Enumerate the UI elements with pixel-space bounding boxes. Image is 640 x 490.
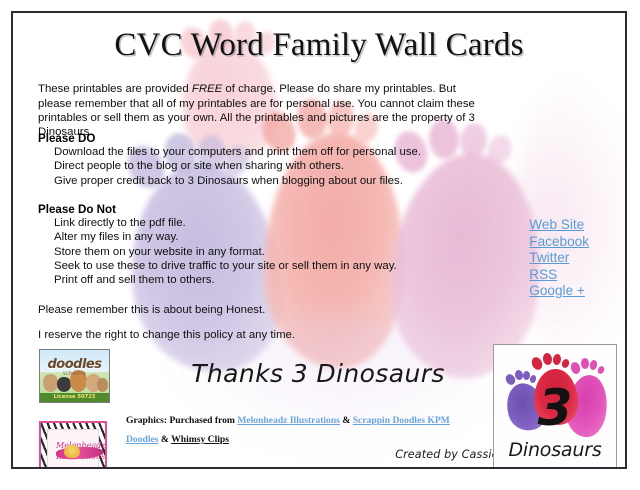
link-twitter[interactable]: Twitter — [529, 250, 589, 267]
list-item: Download the files to your computers and… — [54, 145, 468, 159]
list-item: Give proper credit back to 3 Dinosaurs w… — [54, 174, 468, 188]
page-frame: CVC Word Family Wall Cards These printab… — [11, 11, 627, 469]
list-item: Store them on your website in any format… — [54, 245, 468, 259]
intro-paragraph: These printables are provided FREE of ch… — [38, 82, 478, 139]
credit-link-melonheadz-illustrations[interactable]: Melonheadz Illustrations — [237, 415, 340, 426]
scrappin-badge-wordmark: doodles — [40, 357, 109, 372]
melonheadz-badge-inner: Melonheadz Illustrations — [47, 429, 99, 468]
list-item: Seek to use these to drive traffic to yo… — [54, 259, 468, 273]
intro-emphasis-free: FREE — [192, 83, 222, 95]
please-do-not-heading: Please Do Not — [38, 203, 468, 216]
credits-ampersand: & — [159, 434, 172, 445]
logo-pink-toe — [570, 361, 582, 375]
please-do-not-section: Please Do Not Link directly to the pdf f… — [38, 203, 468, 287]
scrappin-badge-license: License 50723 — [40, 393, 109, 402]
policy-statement: I reserve the right to change this polic… — [38, 328, 438, 342]
please-do-list: Download the files to your computers and… — [38, 145, 468, 188]
credit-link-whimsy-clips[interactable]: Whimsy Clips — [171, 434, 229, 445]
please-do-section: Please DO Download the files to your com… — [38, 132, 468, 188]
please-do-heading: Please DO — [38, 132, 468, 145]
logo-red-toe — [552, 354, 561, 366]
printable-cover-page: CVC Word Family Wall Cards These printab… — [0, 0, 640, 490]
graphics-credits: Graphics: Purchased from Melonheadz Illu… — [126, 411, 476, 449]
thanks-message: Thanks 3 Dinosaurs — [153, 359, 483, 388]
link-web-site[interactable]: Web Site — [529, 217, 589, 234]
logo-pink-toe — [589, 359, 598, 370]
logo-pink-toe — [597, 365, 606, 375]
list-item: Link directly to the pdf file. — [54, 216, 468, 230]
link-facebook[interactable]: Facebook — [529, 234, 589, 251]
badge-animal-graphic — [97, 378, 108, 392]
page-content: CVC Word Family Wall Cards These printab… — [13, 13, 625, 467]
intro-part-1: These printables are provided — [38, 83, 192, 95]
social-link-list: Web Site Facebook Twitter RSS Google + — [529, 217, 589, 300]
list-item: Alter my files in any way. — [54, 230, 468, 244]
credit-link-scrappin-doodles[interactable]: Scrappin Doodles — [353, 415, 428, 426]
list-item: Direct people to the blog or site when s… — [54, 159, 468, 173]
logo-pink-toe — [581, 358, 589, 369]
melonheadz-illustrations-badge[interactable]: Melonheadz Illustrations — [39, 421, 107, 469]
logo-red-toe — [561, 358, 571, 369]
badge-animal-graphic — [57, 377, 71, 392]
three-dinosaurs-logo[interactable]: 3 Dinosaurs — [493, 344, 617, 468]
melonheadz-character-head — [64, 445, 80, 458]
please-do-not-list: Link directly to the pdf file. Alter my … — [38, 216, 468, 287]
link-rss[interactable]: RSS — [529, 267, 589, 284]
page-title: CVC Word Family Wall Cards — [13, 27, 625, 64]
list-item: Print off and sell them to others. — [54, 273, 468, 287]
scrappin-doodles-badge[interactable]: SCRAPPIN doodles License 50723 — [39, 349, 110, 403]
logo-number: 3 — [494, 383, 616, 433]
logo-red-toe — [542, 352, 553, 365]
credits-ampersand: & — [340, 415, 353, 426]
link-google-plus[interactable]: Google + — [529, 283, 589, 300]
credits-lead: Graphics: Purchased from — [126, 415, 237, 426]
honest-statement: Please remember this is about being Hone… — [38, 303, 438, 317]
logo-name: Dinosaurs — [494, 439, 616, 461]
badge-animal-graphic — [43, 374, 58, 392]
